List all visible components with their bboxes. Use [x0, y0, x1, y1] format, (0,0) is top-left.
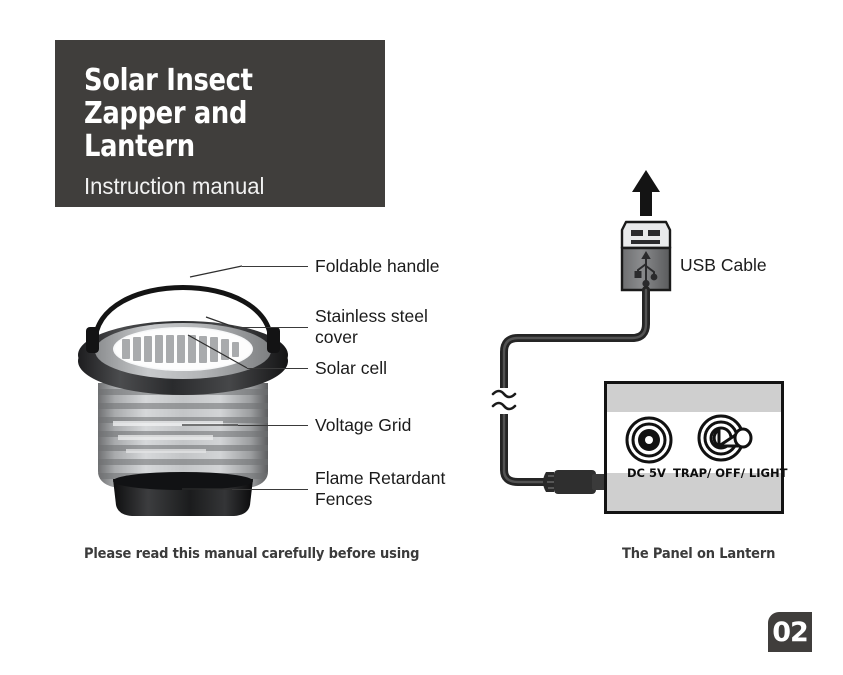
product-caption: Please read this manual carefully before… — [84, 546, 419, 562]
dc-jack-label: DC 5V — [627, 466, 666, 480]
title-block: Solar Insect Zapper and Lantern Instruct… — [55, 40, 385, 207]
callout-voltage-grid: Voltage Grid — [315, 415, 411, 436]
usb-connector-icon — [622, 222, 670, 290]
page-number-badge: 02 — [768, 612, 812, 652]
callout-stainless-steel-cover: Stainless steel cover — [315, 306, 428, 348]
manual-page: Solar Insect Zapper and Lantern Instruct… — [0, 0, 843, 675]
dc-jack-icon[interactable] — [625, 416, 673, 464]
rotary-switch-label: TRAP/ OFF/ LIGHT — [673, 466, 787, 480]
callout-foldable-handle: Foldable handle — [315, 256, 440, 277]
cable-break-icon — [493, 388, 515, 414]
page-title: Solar Insect Zapper and Lantern — [84, 64, 325, 163]
page-number: 02 — [772, 617, 808, 648]
callout-solar-cell: Solar cell — [315, 358, 387, 379]
panel-top-band — [607, 384, 781, 412]
usb-cable-label: USB Cable — [680, 255, 767, 276]
leader-tielines — [120, 255, 300, 505]
callout-flame-retardant-fences: Flame Retardant Fences — [315, 468, 445, 510]
lantern-panel: DC 5V TRAP/ OFF/ LIGHT — [604, 381, 784, 514]
rotary-switch-icon[interactable] — [695, 412, 757, 464]
direction-arrow-icon — [632, 170, 660, 216]
panel-caption: The Panel on Lantern — [622, 546, 775, 562]
page-subtitle: Instruction manual — [84, 173, 373, 199]
